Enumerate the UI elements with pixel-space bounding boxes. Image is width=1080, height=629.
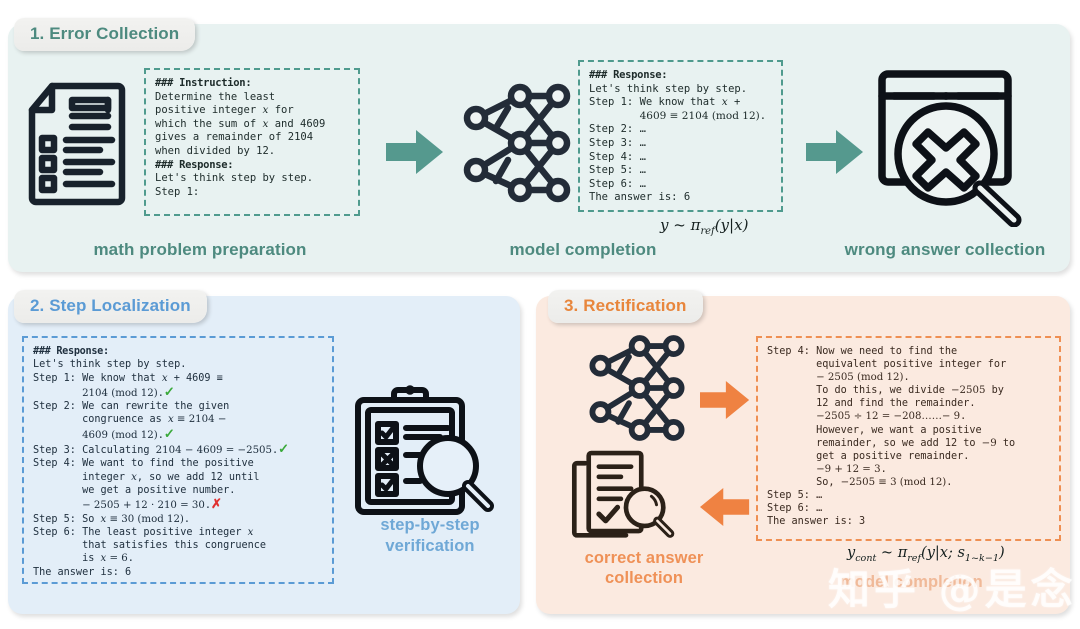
arrow-right-1 xyxy=(386,130,444,179)
caption-correct-answer-collection: correct answercollection xyxy=(556,548,732,588)
rectification-code-box: Step 4: Now we need to find the equivale… xyxy=(756,336,1061,541)
formula-sampling-reference: y ~ πref(y|x) xyxy=(660,216,748,237)
formula-continuation-sampling: ycont ~ πref(y|x; s1~k−1) xyxy=(847,545,1005,564)
caption-wrong-answer-collection: wrong answer collection xyxy=(800,239,1080,260)
panel-title-error-collection: 1. Error Collection xyxy=(14,18,195,51)
document-icon xyxy=(22,80,132,213)
panel-title-rectification: 3. Rectification xyxy=(548,290,703,323)
caption-math-problem-preparation: math problem preparation xyxy=(40,239,360,260)
neural-network-icon xyxy=(578,330,696,451)
model-response-code-box: ### Response: Let's think step by step. … xyxy=(578,60,783,212)
caption-line-1: step-by-stepverification xyxy=(380,516,479,555)
caption-line: correct answercollection xyxy=(585,549,704,587)
step-localization-code-box: ### Response: Let's think step by step. … xyxy=(22,336,334,584)
panel-title-step-localization: 2. Step Localization xyxy=(14,290,207,323)
diagram-canvas: 1. Error Collection ### Instructio xyxy=(0,0,1080,629)
caption-step-by-step-verification: step-by-stepverification xyxy=(334,515,526,557)
browser-error-search-icon xyxy=(862,62,1034,232)
arrow-left-1 xyxy=(700,487,750,532)
instruction-code-box: ### Instruction: Determine the least pos… xyxy=(144,68,360,216)
neural-network-icon xyxy=(458,78,576,213)
arrow-right-3 xyxy=(700,380,750,425)
caption-model-completion-rect: model completion xyxy=(840,572,1046,593)
clipboard-check-search-icon xyxy=(348,384,498,529)
papers-check-search-icon xyxy=(566,448,686,553)
arrow-right-2 xyxy=(806,130,864,179)
caption-model-completion: model completion xyxy=(448,239,718,260)
